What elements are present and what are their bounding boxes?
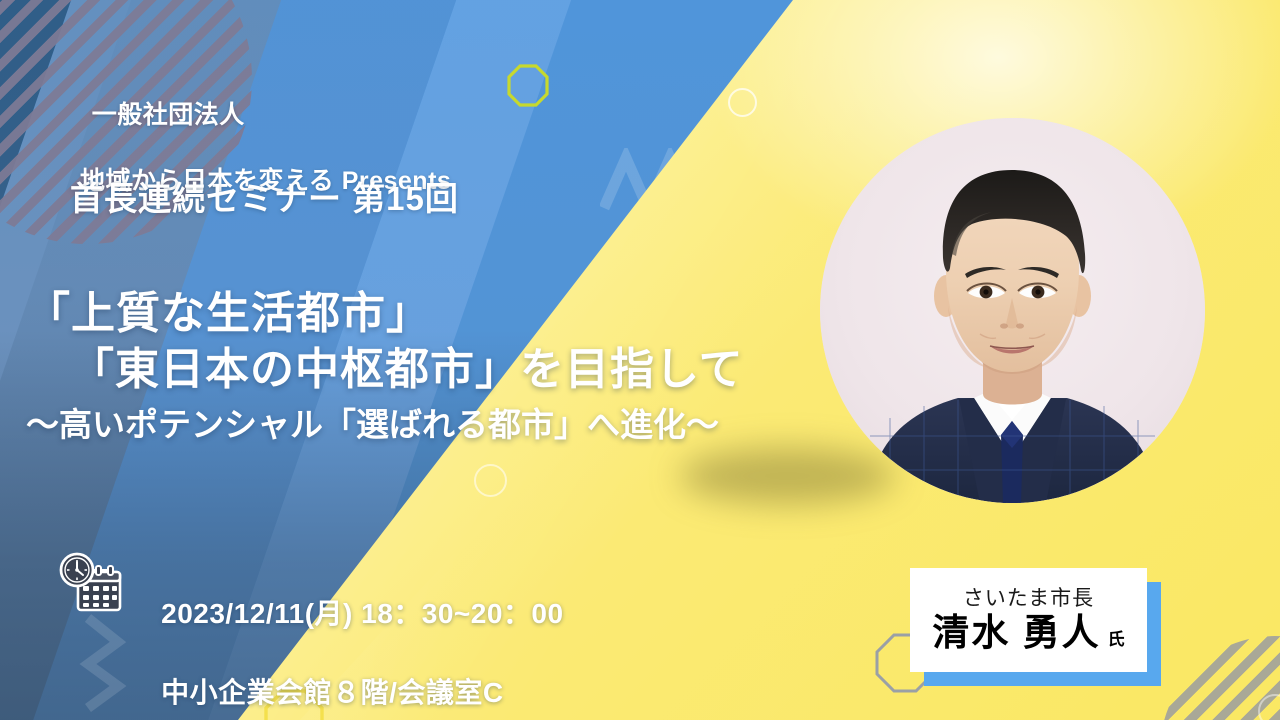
- series-label: 首長連続セミナー 第15回: [70, 172, 459, 220]
- schedule-venue: 中小企業会館８階/会議室C: [161, 677, 504, 708]
- schedule-block: 2023/12/11(月) 18：30~20：00 中小企業会館８階/会議室C …: [128, 554, 564, 720]
- circle-outline-icon: [474, 464, 507, 497]
- speaker-name-row: 清水 勇人 氏: [932, 614, 1124, 653]
- organizer-block: 一般社団法人 地域から日本を変える Presents: [62, 66, 451, 264]
- speaker-role: さいたま市長: [963, 587, 1094, 610]
- speaker-portrait: [820, 118, 1205, 503]
- seminar-poster: 一般社団法人 地域から日本を変える Presents 首長連続セミナー 第15回…: [0, 0, 1280, 720]
- speaker-honorific: 氏: [1108, 625, 1125, 650]
- page-title: 「上質な生活都市」 「東日本の中枢都市」を目指して 〜高いポテンシャル「選ばれる…: [26, 286, 744, 447]
- calendar-clock-icon: [56, 550, 124, 618]
- title-subline: 〜高いポテンシャル「選ばれる都市」へ進化〜: [26, 403, 744, 447]
- octagon-lime-icon: [506, 63, 550, 109]
- title-line-2: 「東日本の中枢都市」を目指して: [70, 342, 744, 398]
- speaker-nameplate: さいたま市長 清水 勇人 氏: [910, 568, 1147, 672]
- portrait-drop-shadow: [680, 448, 895, 504]
- zigzag-icon: [78, 612, 130, 717]
- circle-outline-icon: [728, 88, 757, 117]
- speaker-name: 清水 勇人: [932, 614, 1100, 653]
- organizer-line-1: 一般社団法人: [92, 101, 245, 129]
- schedule-datetime: 2023/12/11(月) 18：30~20：00: [161, 598, 563, 629]
- title-line-1: 「上質な生活都市」: [26, 286, 744, 342]
